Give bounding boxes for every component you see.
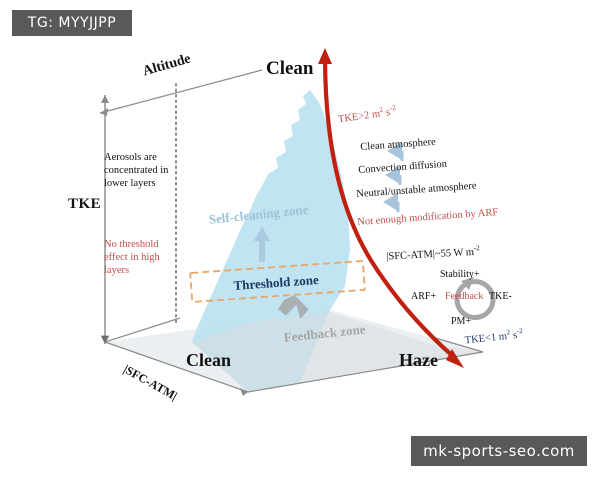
tke-high-exp2: -2 <box>389 104 396 113</box>
note-no-threshold-effect: No threshold effect in high layers <box>104 239 176 277</box>
tke-low-text: TKE<1 m <box>464 331 507 346</box>
feedback-node-tke-minus: TKE- <box>489 291 512 303</box>
feedback-loop-label: Feedback <box>445 291 483 303</box>
tke-low-exp2: -2 <box>516 327 523 336</box>
altitude-axis-arrowhead <box>100 108 108 116</box>
corner-label-haze: Haze <box>399 350 438 372</box>
altitude-axis <box>100 70 262 113</box>
corner-label-clean-bottom: Clean <box>186 350 231 372</box>
tke-axis-label: TKE <box>68 195 101 213</box>
red-arrow-head-top <box>318 48 332 64</box>
feedback-node-pm: PM+ <box>451 316 471 328</box>
figure-canvas: Altitude TKE |SFC-ATM| Clean Clean Haze … <box>0 0 600 480</box>
feedback-node-stability: Stability+ <box>440 269 480 281</box>
sfc-atm-text: |SFC-ATM|~55 W m <box>386 247 474 263</box>
sfc-atm-exp: -2 <box>474 244 480 252</box>
feedback-node-arf: ARF+ <box>411 291 436 303</box>
watermark-top: TG: MYYJJPP <box>12 10 132 36</box>
watermark-bottom: mk-sports-seo.com <box>411 436 587 466</box>
note-aerosols-concentrated: Aerosols are concentrated in lower layer… <box>104 152 174 190</box>
tke-axis-arrowhead <box>101 95 109 103</box>
corner-label-clean-top: Clean <box>266 57 314 80</box>
